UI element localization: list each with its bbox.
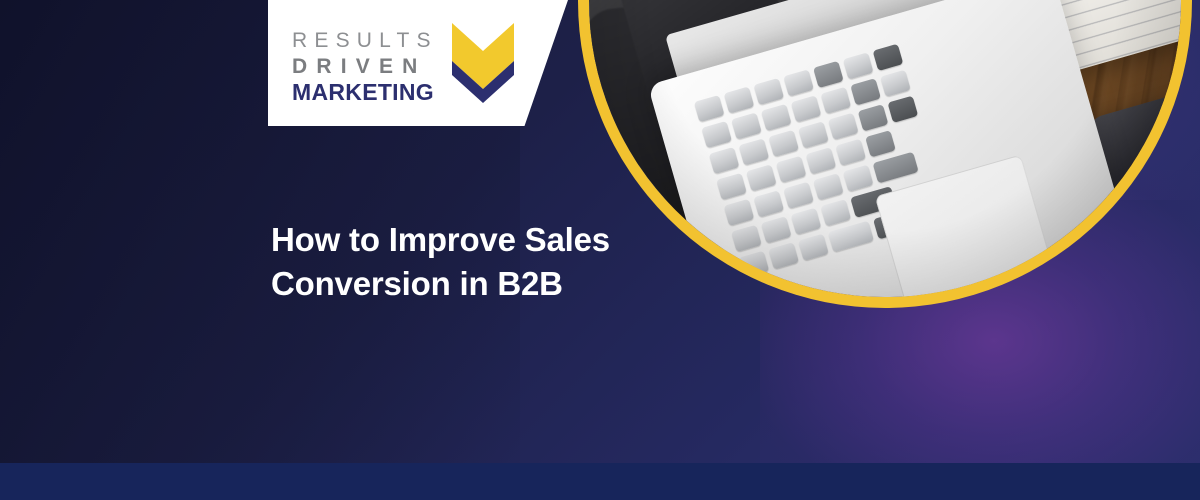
photo-circle-mask (589, 0, 1181, 297)
logo-line-results: RESULTS (292, 30, 438, 51)
blog-header-banner: RESULTS DRIVEN MARKETING How to Improve … (0, 0, 1200, 500)
logo-line-driven: DRIVEN (292, 56, 438, 77)
photo-yellow-ring (578, 0, 1192, 308)
page-title: How to Improve Sales Conversion in B2B (271, 218, 661, 306)
desk-photo (589, 0, 1181, 297)
chevron-mark-icon (452, 21, 514, 110)
bottom-accent-bar (0, 463, 1200, 500)
brand-logo[interactable]: RESULTS DRIVEN MARKETING (292, 26, 542, 108)
logo-line-marketing: MARKETING (292, 81, 438, 104)
logo-wordmark: RESULTS DRIVEN MARKETING (292, 30, 438, 104)
